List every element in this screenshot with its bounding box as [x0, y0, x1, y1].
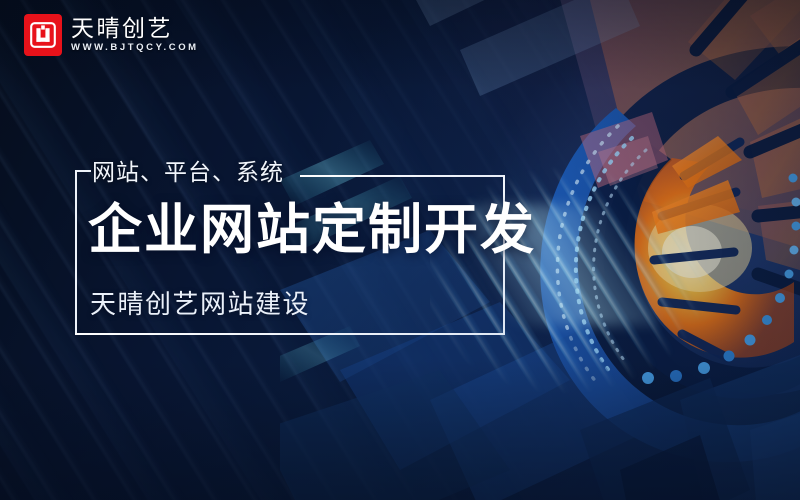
- subline-text: 天晴创艺网站建设: [90, 288, 310, 322]
- brand-logo[interactable]: 天晴创艺 WWW.BJTQCY.COM: [24, 14, 199, 56]
- frame-corner-top-left: [75, 170, 91, 172]
- company-monogram-icon: [24, 14, 62, 56]
- frame-line-bottom: [75, 333, 505, 335]
- logo-text-group: 天晴创艺 WWW.BJTQCY.COM: [71, 18, 199, 53]
- brand-website: WWW.BJTQCY.COM: [71, 43, 199, 53]
- promo-banner: 天晴创艺 WWW.BJTQCY.COM 网站、平台、系统 企业网站定制开发 天晴…: [0, 0, 800, 500]
- eyebrow-text: 网站、平台、系统: [92, 158, 284, 188]
- headline-text: 企业网站定制开发: [88, 198, 536, 262]
- brand-name: 天晴创艺: [71, 18, 199, 41]
- frame-line-top: [300, 175, 505, 177]
- headline-block: 网站、平台、系统 企业网站定制开发 天晴创艺网站建设: [0, 0, 800, 500]
- frame-line-left: [75, 170, 77, 335]
